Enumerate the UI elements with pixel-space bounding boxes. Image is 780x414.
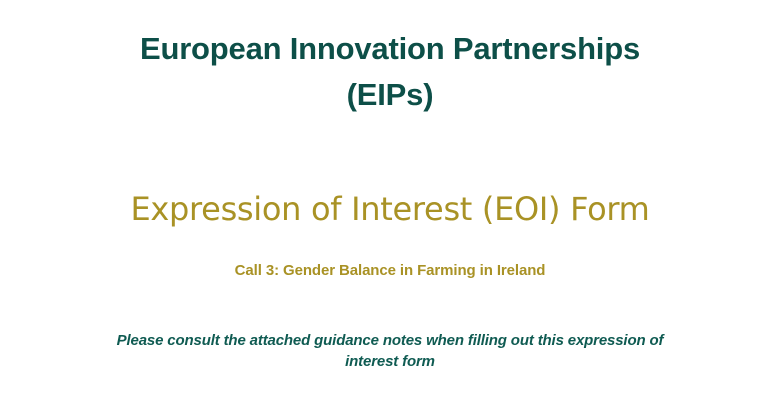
page-title-line-1: European Innovation Partnerships xyxy=(0,26,780,72)
document-page: European Innovation Partnerships (EIPs) … xyxy=(0,0,780,414)
call-subtitle: Call 3: Gender Balance in Farming in Ire… xyxy=(0,260,780,281)
form-heading: Expression of Interest (EOI) Form xyxy=(0,188,780,230)
page-title-line-2: (EIPs) xyxy=(0,72,780,118)
guidance-note: Please consult the attached guidance not… xyxy=(90,330,690,372)
page-title: European Innovation Partnerships (EIPs) xyxy=(0,26,780,118)
